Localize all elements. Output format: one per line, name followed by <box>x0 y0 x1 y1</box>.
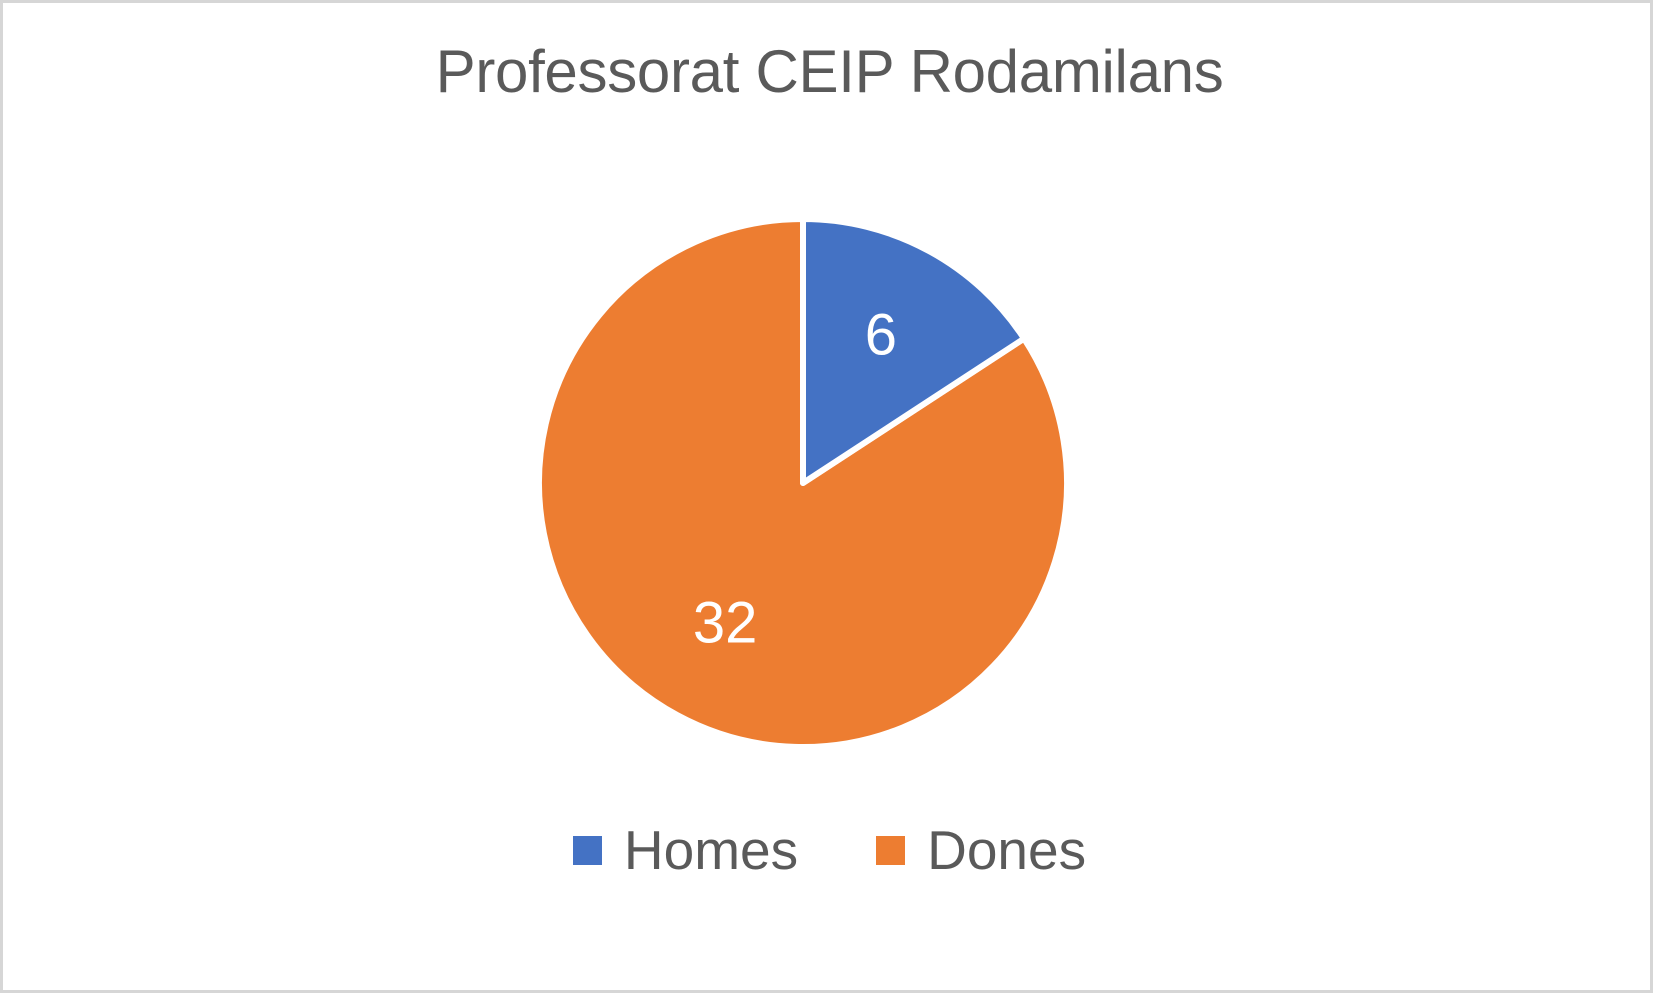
legend-item-dones[interactable]: Dones <box>876 823 1086 878</box>
pie-slice-label-dones: 32 <box>693 590 758 655</box>
chart-legend: Homes Dones <box>3 823 1653 878</box>
chart-title: Professorat CEIP Rodamilans <box>3 37 1653 106</box>
legend-label-homes: Homes <box>624 823 798 878</box>
pie-slice-label-homes: 6 <box>865 302 897 367</box>
legend-label-dones: Dones <box>927 823 1086 878</box>
pie-chart-svg: 6 32 <box>523 203 1083 763</box>
legend-swatch-dones-icon <box>876 836 905 865</box>
chart-frame: Professorat CEIP Rodamilans 6 32 Homes D… <box>0 0 1653 993</box>
legend-item-homes[interactable]: Homes <box>573 823 798 878</box>
legend-swatch-homes-icon <box>573 836 602 865</box>
pie-chart-plot-area: 6 32 <box>523 203 1083 763</box>
